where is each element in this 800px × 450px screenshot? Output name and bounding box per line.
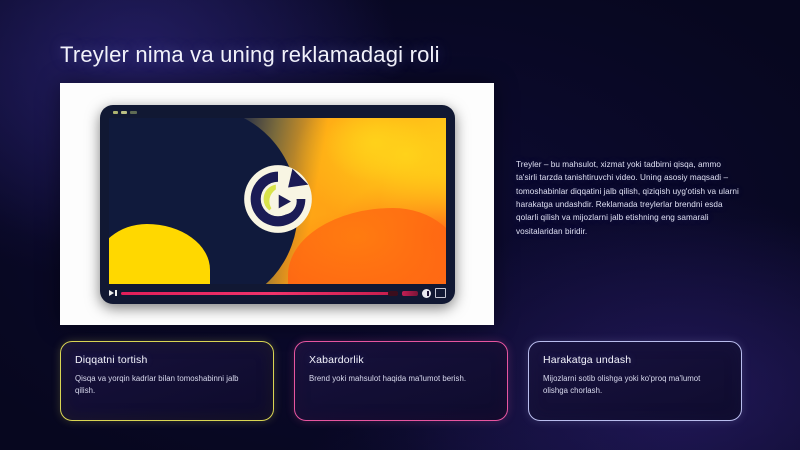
card-body: Qisqa va yorqin kadrlar bilan tomoshabin… — [75, 373, 259, 398]
card-title: Xabardorlik — [309, 354, 493, 366]
feature-card-attention[interactable]: Diqqatni tortish Qisqa va yorqin kadrlar… — [60, 341, 274, 421]
feature-card-awareness[interactable]: Xabardorlik Brend yoki mahsulot haqida m… — [294, 341, 508, 421]
window-dot-icon — [130, 111, 137, 114]
feature-card-call-to-action[interactable]: Harakatga undash Mijozlarni sotib olishg… — [528, 341, 742, 421]
card-body: Brend yoki mahsulot haqida ma'lumot beri… — [309, 373, 493, 385]
volume-icon[interactable] — [422, 289, 431, 298]
card-title: Diqqatni tortish — [75, 354, 259, 366]
progress-bar[interactable] — [121, 292, 398, 295]
fullscreen-icon[interactable] — [435, 288, 446, 298]
window-dot-icon — [121, 111, 127, 114]
video-screen[interactable] — [109, 118, 446, 284]
page-title: Treyler nima va uning reklamadagi roli — [60, 42, 440, 68]
player-controls[interactable] — [109, 286, 446, 300]
feature-cards: Diqqatni tortish Qisqa va yorqin kadrlar… — [60, 341, 742, 421]
window-dot-icon — [113, 111, 118, 114]
lead-paragraph: Treyler – bu mahsulot, xizmat yoki tadbi… — [516, 158, 742, 238]
circular-play-logo-icon — [242, 163, 314, 235]
card-body: Mijozlarni sotib olishga yoki ko'proq ma… — [543, 373, 727, 398]
video-preview-panel — [60, 83, 494, 325]
play-icon[interactable] — [109, 289, 117, 297]
slide-canvas: Treyler nima va uning reklamadagi roli — [0, 0, 800, 450]
video-player[interactable] — [100, 105, 455, 304]
player-window-dots — [113, 111, 137, 114]
volume-slider[interactable] — [402, 291, 418, 296]
artwork-amber-shape — [325, 118, 426, 181]
card-title: Harakatga undash — [543, 354, 727, 366]
